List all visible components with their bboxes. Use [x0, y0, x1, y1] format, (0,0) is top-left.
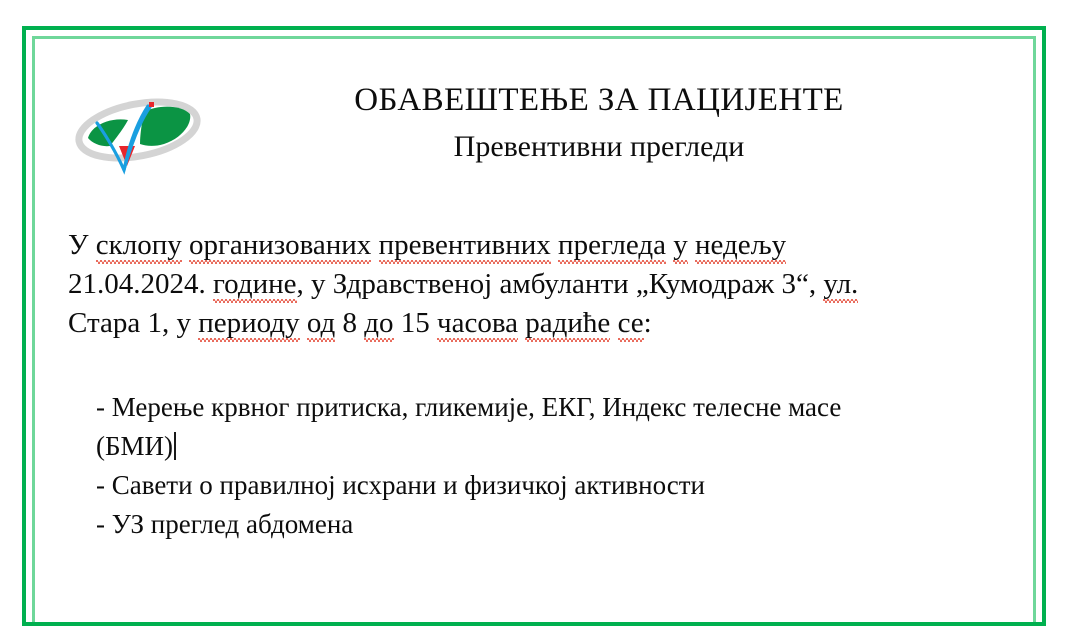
misspelled-word: године [213, 268, 297, 301]
text-run: 15 [394, 307, 438, 339]
text-run: : [644, 307, 652, 339]
text-run: 8 [335, 307, 364, 339]
misspelled-word: се [618, 307, 644, 340]
misspelled-word: радиће [525, 307, 610, 340]
text-run: , у Здравственој амбуланти „Кумодраж 3“, [297, 268, 824, 300]
services-list: - Мерење крвног притиска, гликемије, ЕКГ… [96, 388, 1016, 544]
page-title: ОБАВЕШТЕЊЕ ЗА ПАЦИЈЕНТЕ [204, 78, 994, 122]
document-content: ОБАВЕШТЕЊЕ ЗА ПАЦИЈЕНТЕ Превентивни прег… [0, 0, 1068, 580]
list-item: (БМИ) [96, 427, 1016, 466]
text-run: 21.04.2024. [68, 268, 213, 300]
misspelled-word: организованих [189, 229, 371, 262]
page-subtitle: Превентивни прегледи [204, 126, 994, 168]
list-item: - Мерење крвног притиска, гликемије, ЕКГ… [96, 388, 1016, 427]
text-run [688, 229, 695, 261]
misspelled-word: ул. [823, 268, 858, 301]
misspelled-word: недељу [695, 229, 786, 262]
text-run [371, 229, 378, 261]
title-group: ОБАВЕШТЕЊЕ ЗА ПАЦИЈЕНТЕ Превентивни прег… [204, 78, 994, 168]
misspelled-word: периоду [198, 307, 299, 340]
misspelled-word: склопу [96, 229, 182, 262]
document-header: ОБАВЕШТЕЊЕ ЗА ПАЦИЈЕНТЕ Превентивни прег… [0, 78, 1068, 188]
paragraph-line: Стара 1, у периоду од 8 до 15 часова рад… [68, 304, 998, 343]
text-run [610, 307, 617, 339]
misspelled-word: превентивних [379, 229, 551, 262]
text-run [300, 307, 307, 339]
document-page: ОБАВЕШТЕЊЕ ЗА ПАЦИЈЕНТЕ Превентивни прег… [0, 0, 1068, 580]
text-cursor [174, 432, 176, 460]
list-item-label: - Савети о правилној исхрани и физичкој … [96, 470, 705, 500]
misspelled-word: прегледа [558, 229, 666, 262]
clinic-bird-logo-icon [72, 90, 204, 176]
announcement-paragraph: У склопу организованих превентивних прег… [68, 226, 998, 343]
list-item-label: (БМИ) [96, 431, 173, 461]
text-run [551, 229, 558, 261]
paragraph-line: У склопу организованих превентивних прег… [68, 226, 998, 265]
list-item-label: - Мерење крвног притиска, гликемије, ЕКГ… [96, 392, 841, 422]
list-item: - Савети о правилној исхрани и физичкој … [96, 466, 1016, 505]
misspelled-word: од [307, 307, 335, 340]
misspelled-word: у [673, 229, 688, 262]
paragraph-line: 21.04.2024. године, у Здравственој амбул… [68, 265, 998, 304]
list-item: - УЗ преглед абдомена [96, 505, 1016, 544]
list-item-label: - УЗ преглед абдомена [96, 509, 353, 539]
misspelled-word: часова [437, 307, 518, 340]
misspelled-word: до [364, 307, 393, 340]
text-run: Стара 1, у [68, 307, 198, 339]
text-run: У [68, 229, 96, 261]
text-run [182, 229, 189, 261]
